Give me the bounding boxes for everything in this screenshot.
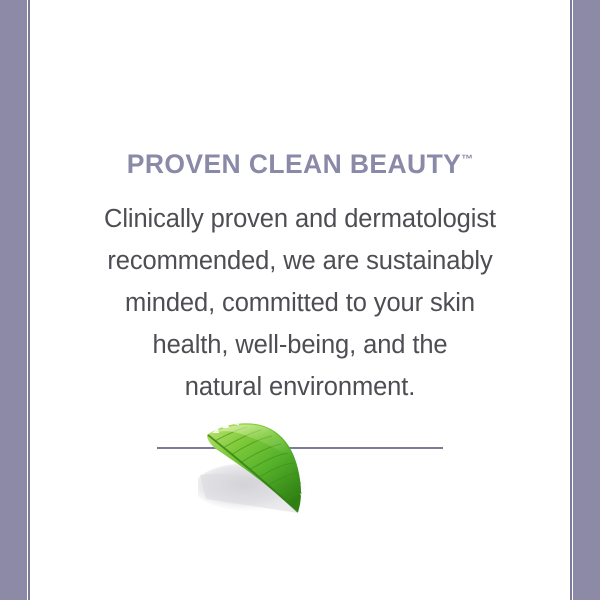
body-line: natural environment. (72, 366, 528, 408)
content-area: PROVEN CLEAN BEAUTY™ Clinically proven a… (30, 0, 570, 600)
leaf-graphic (198, 413, 328, 518)
body-line: health, well-being, and the (72, 324, 528, 366)
left-accent-band (0, 0, 27, 600)
right-accent-band-rule (570, 0, 572, 600)
body-copy: Clinically proven and dermatologist reco… (72, 198, 528, 408)
body-line: recommended, we are sustainably (72, 240, 528, 282)
body-line: minded, committed to your skin (72, 282, 528, 324)
body-line: Clinically proven and dermatologist (72, 198, 528, 240)
proven-clean-beauty-panel: PROVEN CLEAN BEAUTY™ Clinically proven a… (0, 0, 600, 600)
right-accent-band (573, 0, 600, 600)
leaf-emblem-group (30, 405, 570, 520)
green-leaf-icon (198, 413, 328, 518)
page-title-text: PROVEN CLEAN BEAUTY (127, 149, 461, 179)
trademark-symbol: ™ (461, 152, 473, 166)
page-title: PROVEN CLEAN BEAUTY™ (30, 151, 570, 178)
